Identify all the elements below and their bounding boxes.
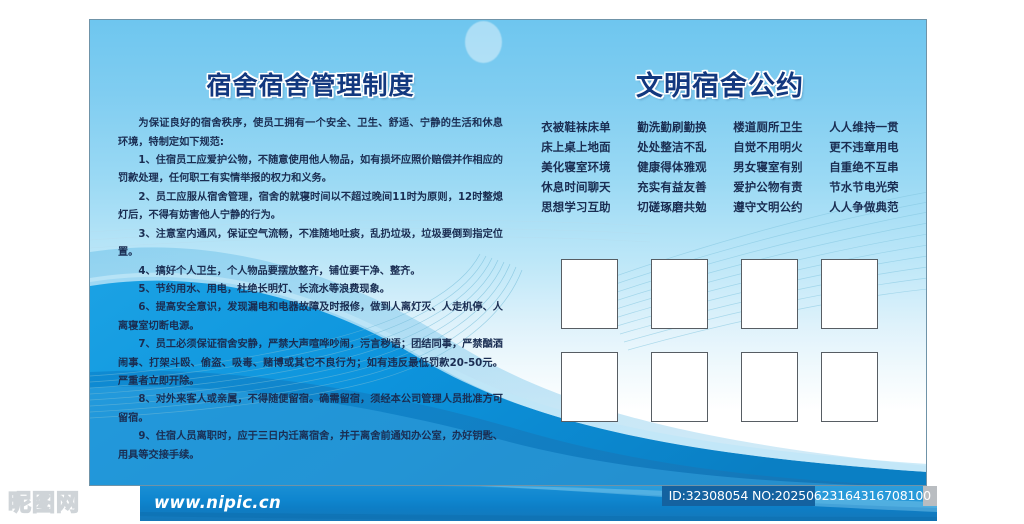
id-badge-text: ID:32308054 NO:20250623164316708100 — [669, 486, 931, 506]
pledge-cell: 男女寝室有别 — [722, 160, 814, 174]
pledge-cell: 床上桌上地面 — [530, 140, 622, 154]
rule-paragraph: 2、员工应服从宿舍管理，宿舍的就寝时间以不超过晚间11时为原则，12时整熄灯后，… — [118, 189, 503, 226]
rule-paragraph: 3、注意室内通风，保证空气流畅，不准随地吐痰，乱扔垃圾，垃圾要倒到指定位置。 — [118, 226, 503, 263]
right-panel-title: 文明宿舍公约 — [530, 70, 910, 104]
left-panel-title: 宿舍宿舍管理制度 — [118, 70, 503, 101]
pledge-cell: 充实有益友善 — [626, 180, 718, 194]
nipic-logo-watermark: 昵图网 — [8, 488, 80, 518]
rule-paragraph: 为保证良好的宿舍秩序，使员工拥有一个安全、卫生、舒适、宁静的生活和休息环境，特制… — [118, 115, 503, 152]
pledge-cell: 休息时间聊天 — [530, 180, 622, 194]
photo-placeholder — [651, 352, 708, 422]
pledge-cell: 更不违章用电 — [818, 140, 910, 154]
rule-paragraph: 7、员工必须保证宿舍安静，严禁大声喧哗吵闹，污言秽语；团结同事，严禁酗酒闹事、打… — [118, 336, 503, 391]
photo-placeholder — [741, 352, 798, 422]
pledge-cell: 楼道厕所卫生 — [722, 120, 814, 134]
pledge-cell: 自重绝不互串 — [818, 160, 910, 174]
photo-placeholder — [651, 259, 708, 329]
left-panel: 宿舍宿舍管理制度 为保证良好的宿舍秩序，使员工拥有一个安全、卫生、舒适、宁静的生… — [118, 70, 503, 465]
rule-paragraph: 4、搞好个人卫生，个人物品要摆放整齐，铺位要干净、整齐。 — [118, 263, 503, 281]
watermark-bar: www.nipic.cn ID:32308054 NO:202506231643… — [140, 486, 937, 521]
decorative-bubble — [465, 21, 502, 63]
photo-placeholder — [561, 259, 618, 329]
rule-paragraph: 8、对外来客人或亲属，不得随便留宿。确需留宿，须经本公司管理人员批准方可留宿。 — [118, 391, 503, 428]
rule-paragraph: 5、节约用水、用电，杜绝长明灯、长流水等浪费现象。 — [118, 281, 503, 299]
pledge-cell: 美化寝室环境 — [530, 160, 622, 174]
pledge-cell: 健康得体雅观 — [626, 160, 718, 174]
pledge-cell: 处处整洁不乱 — [626, 140, 718, 154]
pledge-cell: 自觉不用明火 — [722, 140, 814, 154]
rule-paragraph: 9、住宿人员离职时，应于三日内迁离宿舍，并于离舍前通知办公室，办好钥匙、用具等交… — [118, 428, 503, 465]
pledge-cell: 遵守文明公约 — [722, 200, 814, 214]
pledge-cell: 切磋琢磨共勉 — [626, 200, 718, 214]
rule-paragraph: 6、提高安全意识，发现漏电和电器故障及时报修，做到人离灯灭、人走机停、人离寝室切… — [118, 299, 503, 336]
pledge-grid: 衣被鞋袜床单 勤洗勤刷勤换 楼道厕所卫生 人人维持一贯 床上桌上地面 处处整洁不… — [530, 120, 910, 214]
photo-placeholder — [741, 259, 798, 329]
pledge-cell: 人人维持一贯 — [818, 120, 910, 134]
photo-placeholder — [821, 259, 878, 329]
right-panel: 文明宿舍公约 衣被鞋袜床单 勤洗勤刷勤换 楼道厕所卫生 人人维持一贯 床上桌上地… — [530, 70, 910, 214]
rule-paragraph: 1、住宿员工应爱护公物，不随意使用他人物品，如有损坏应照价赔偿并作相应的罚款处理… — [118, 152, 503, 189]
watermark-url: www.nipic.cn — [154, 493, 281, 512]
left-panel-body: 为保证良好的宿舍秩序，使员工拥有一个安全、卫生、舒适、宁静的生活和休息环境，特制… — [118, 115, 503, 465]
pledge-cell: 思想学习互助 — [530, 200, 622, 214]
photo-placeholder-grid — [561, 259, 879, 419]
poster-board: 宿舍宿舍管理制度 为保证良好的宿舍秩序，使员工拥有一个安全、卫生、舒适、宁静的生… — [89, 19, 927, 486]
screenshot-canvas: 宿舍宿舍管理制度 为保证良好的宿舍秩序，使员工拥有一个安全、卫生、舒适、宁静的生… — [0, 0, 1024, 524]
pledge-cell: 衣被鞋袜床单 — [530, 120, 622, 134]
photo-placeholder — [561, 352, 618, 422]
pledge-cell: 节水节电光荣 — [818, 180, 910, 194]
pledge-cell: 人人争做典范 — [818, 200, 910, 214]
pledge-cell: 勤洗勤刷勤换 — [626, 120, 718, 134]
photo-placeholder — [821, 352, 878, 422]
pledge-cell: 爱护公物有责 — [722, 180, 814, 194]
